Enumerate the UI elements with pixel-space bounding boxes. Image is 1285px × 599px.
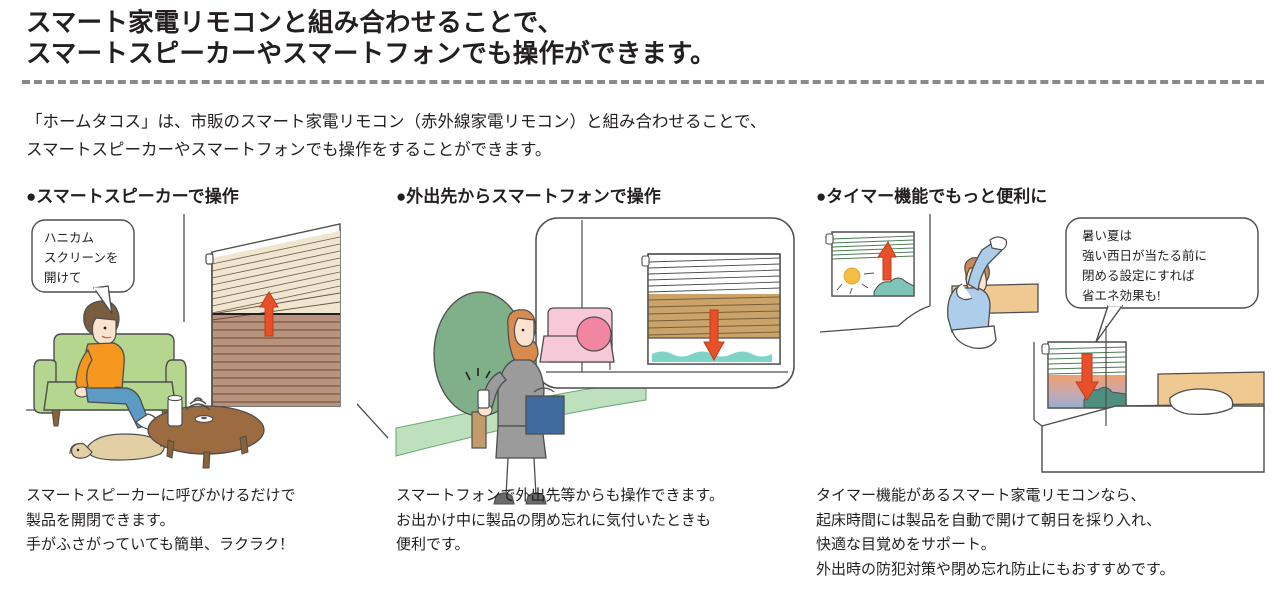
column-2-heading: ●外出先からスマートフォンで操作	[396, 186, 796, 208]
illustration-outdoors	[396, 214, 796, 472]
illustration-living-room: ハニカム スクリーンを 開けて	[26, 214, 388, 472]
bubble-3-line-3: 閉める設定にすれば	[1082, 268, 1195, 283]
bubble-1-line-1: ハニカム	[44, 231, 94, 245]
sun-icon	[844, 268, 860, 284]
column-3-heading: ●タイマー機能でもっと便利に	[816, 186, 1264, 208]
header-divider	[22, 80, 1264, 84]
speech-bubble-1: ハニカム スクリーンを 開けて	[32, 220, 134, 314]
sofa-pink	[540, 308, 614, 370]
column-timer: ●タイマー機能でもっと便利に	[816, 186, 1264, 472]
product-feature-page: スマート家電リモコンと組み合わせることで、 スマートスピーカーやスマートフォンで…	[0, 0, 1285, 599]
window-morning	[826, 232, 914, 296]
bubble-3-line-4: 省エネ効果も!	[1082, 288, 1160, 303]
column-3-caption: タイマー機能があるスマート家電リモコンなら、 起床時間には製品を自動で開けて朝日…	[816, 484, 1266, 582]
bubble-3-line-1: 暑い夏は	[1082, 229, 1132, 243]
inset-room-panel	[536, 218, 794, 388]
bubble-3-line-2: 強い西日が当たる前に	[1082, 248, 1207, 263]
illustration-bedroom: 暑い夏は 強い西日が当たる前に 閉める設定にすれば 省エネ効果も!	[816, 214, 1264, 472]
bubble-1-line-2: スクリーンを	[44, 251, 118, 265]
page-headline: スマート家電リモコンと組み合わせることで、 スマートスピーカーやスマートフォンで…	[26, 8, 1126, 70]
bubble-1-line-3: 開けて	[44, 271, 82, 285]
column-1-heading: ●スマートスピーカーで操作	[26, 186, 388, 208]
window-evening	[1042, 342, 1126, 408]
column-smart-speaker: ●スマートスピーカーで操作	[26, 186, 388, 472]
column-2-caption: スマートフォンで外出先等からも操作できます。 お出かけ中に製品の閉め忘れに気付い…	[396, 484, 796, 558]
pillow	[1170, 389, 1233, 414]
column-1-caption: スマートスピーカーに呼びかけるだけで 製品を開閉できます。 手がふさがっていても…	[26, 484, 392, 558]
lead-paragraph: 「ホームタコス」は、市販のスマート家電リモコン（赤外線家電リモコン）と組み合わせ…	[26, 108, 1176, 164]
column-smartphone: ●外出先からスマートフォンで操作	[396, 186, 796, 472]
